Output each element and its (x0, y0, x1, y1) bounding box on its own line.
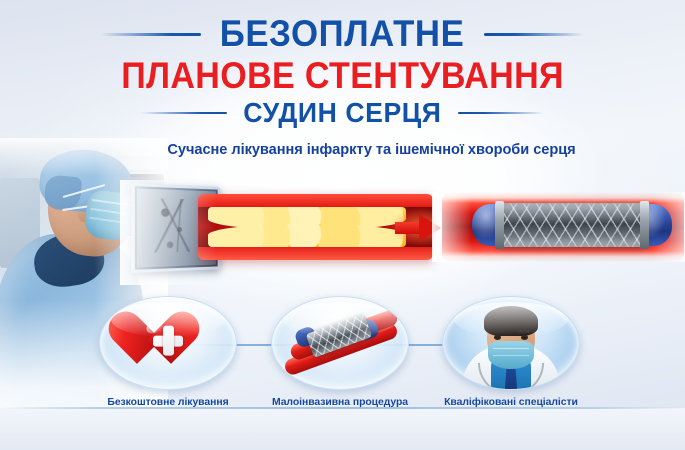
cross-bar-vertical (163, 326, 174, 356)
title-row-1: БЕЗОПЛАТНЕ (0, 14, 685, 54)
stent-mesh-icon (498, 203, 646, 247)
feature-list: Безкоштовне лікування Малоінвазивна проц… (0, 296, 685, 406)
doctor-face-mask-icon (488, 341, 534, 369)
doctor-eye-right (521, 335, 528, 340)
doctor-with-mask-icon (443, 297, 579, 389)
doctor-eyebrow-left (492, 330, 504, 333)
bottom-divider-line (0, 407, 685, 409)
medical-advertisement-banner: БЕЗОПЛАТНЕ ПЛАНОВЕ СТЕНТУВАННЯ СУДИН СЕР… (0, 0, 685, 450)
title-line-2: ПЛАНОВЕ СТЕНТУВАННЯ (121, 55, 564, 97)
bottom-fade-area (0, 408, 685, 450)
doctor-eye-left (494, 335, 501, 340)
title-row-2: ПЛАНОВЕ СТЕНТУВАННЯ (0, 54, 685, 97)
title-rule-left-lower (141, 112, 227, 115)
subtitle-text: Сучасне лікування інфаркту та ішемічної … (0, 142, 685, 158)
title-row-3: СУДИН СЕРЦЯ (0, 97, 685, 129)
arrow-shaft (395, 222, 421, 234)
stent-cap-right (640, 201, 649, 249)
feature-item-qualified-specialists: Кваліфіковані спеціалісти (411, 296, 611, 408)
stent-cap-left (495, 201, 504, 249)
title-rule-right-lower (458, 112, 544, 115)
cholesterol-plaque-lower (208, 224, 406, 247)
doctor-eyebrow-right (518, 330, 530, 333)
title-line-1: БЕЗОПЛАТНЕ (220, 14, 465, 54)
title-line-3: СУДИН СЕРЦЯ (243, 97, 441, 129)
feature-item-minimally-invasive: Малоінвазивна процедура (240, 296, 440, 408)
feature-badge-oval (99, 296, 237, 390)
medical-illustration (120, 180, 685, 285)
feature-badge-oval (271, 296, 409, 390)
feature-badge-oval (442, 296, 580, 390)
title-rule-left (101, 33, 201, 36)
feature-item-free-treatment: Безкоштовне лікування (68, 296, 268, 408)
headline-block: БЕЗОПЛАТНЕ ПЛАНОВЕ СТЕНТУВАННЯ СУДИН СЕР… (0, 14, 685, 129)
title-rule-right (484, 33, 584, 36)
medical-cross-icon (153, 326, 183, 356)
